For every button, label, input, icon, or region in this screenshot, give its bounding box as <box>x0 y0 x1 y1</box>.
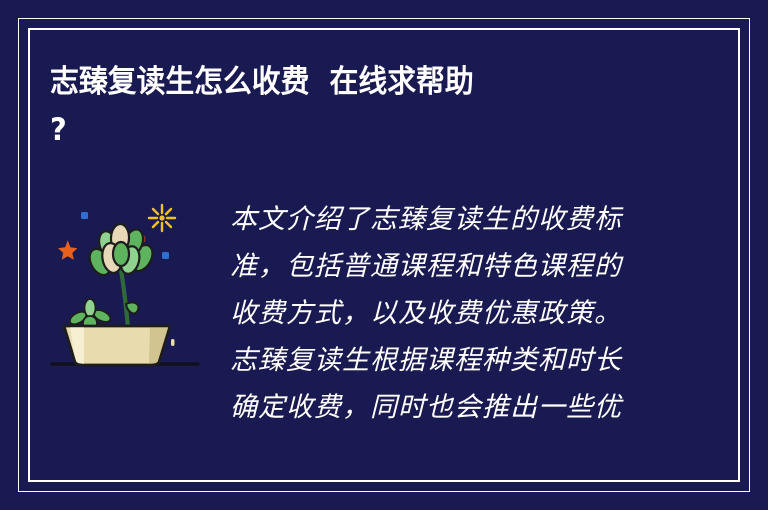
orange-star-icon <box>58 240 77 259</box>
potted-plant-illustration <box>50 196 218 381</box>
yellow-sparkle-icon <box>149 205 175 231</box>
article-body: 本文介绍了志臻复读生的收费标 准，包括普通课程和特色课程的 收费方式，以及收费优… <box>230 188 720 431</box>
body-line: 志臻复读生根据课程种类和时长 <box>230 337 720 384</box>
article-card: 志臻复读生怎么收费 在线求帮助 ? <box>0 0 768 510</box>
title-line-1: 志臻复读生怎么收费 在线求帮助 <box>50 58 664 106</box>
page-title: 志臻复读生怎么收费 在线求帮助 ? <box>50 58 710 154</box>
body-line: 准，包括普通课程和特色课程的 <box>230 243 720 290</box>
plant-stem <box>121 270 128 328</box>
body-line: 收费方式，以及收费优惠政策。 <box>230 290 720 337</box>
body-line: 本文介绍了志臻复读生的收费标 <box>230 196 720 243</box>
title-line-2: ? <box>50 106 664 154</box>
flower-pot <box>64 326 175 365</box>
content-row: 本文介绍了志臻复读生的收费标 准，包括普通课程和特色课程的 收费方式，以及收费优… <box>50 188 720 470</box>
blue-dot-right-icon <box>162 252 169 259</box>
blue-dot-upper-left-icon <box>81 212 88 219</box>
body-line: 确定收费，同时也会推出一些优 <box>230 384 720 431</box>
